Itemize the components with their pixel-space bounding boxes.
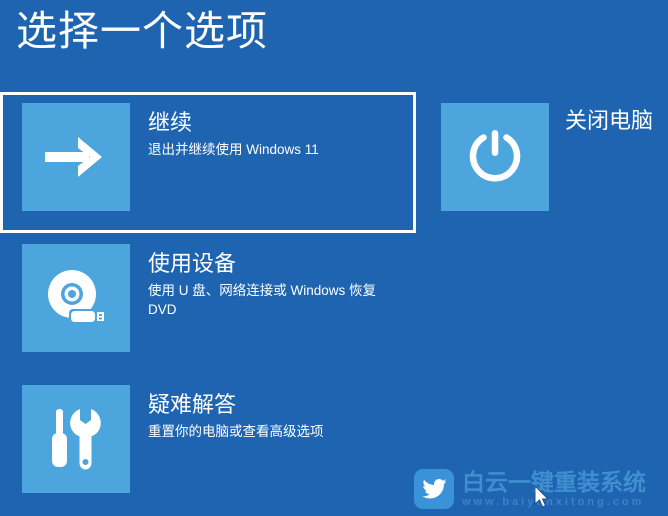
options-column-left: 继续 退出并继续使用 Windows 11 使用设备 使用 U 盘、网络连接或 … [0,92,416,515]
option-troubleshoot-tile [22,385,130,493]
option-title: 使用设备 [148,250,400,278]
option-continue-text: 继续 退出并继续使用 Windows 11 [148,103,319,159]
option-title: 关闭电脑 [565,107,653,135]
watermark-url: www.baiyunxitong.com [462,495,646,509]
bird-glyph [421,478,447,500]
watermark-text: 白云一键重装系统 www.baiyunxitong.com [462,470,646,509]
option-use-a-device-tile [22,244,130,352]
bird-icon [414,469,454,509]
option-continue-tile [22,103,130,211]
arrow-right-icon [45,134,107,180]
option-title: 疑难解答 [148,391,324,419]
screwdriver-wrench-icon [47,407,105,471]
option-troubleshoot-text: 疑难解答 重置你的电脑或查看高级选项 [148,385,324,441]
watermark: 白云一键重装系统 www.baiyunxitong.com [414,466,664,512]
option-use-a-device-text: 使用设备 使用 U 盘、网络连接或 Windows 恢复 DVD [148,244,400,319]
options-column-right: 关闭电脑 [430,92,668,233]
power-icon [466,128,524,186]
option-use-a-device[interactable]: 使用设备 使用 U 盘、网络连接或 Windows 恢复 DVD [0,233,416,374]
option-continue[interactable]: 继续 退出并继续使用 Windows 11 [0,92,416,233]
option-title: 继续 [148,109,319,137]
option-turn-off-pc[interactable]: 关闭电脑 [430,92,668,233]
watermark-brand: 白云一键重装系统 [462,470,646,495]
page-title: 选择一个选项 [16,2,268,60]
option-subtitle: 退出并继续使用 Windows 11 [148,140,319,159]
option-troubleshoot[interactable]: 疑难解答 重置你的电脑或查看高级选项 [0,374,416,515]
option-turn-off-pc-tile [441,103,549,211]
option-subtitle: 使用 U 盘、网络连接或 Windows 恢复 DVD [148,281,400,319]
disc-usb-device-icon [44,269,108,327]
option-turn-off-pc-text: 关闭电脑 [565,103,653,135]
option-subtitle: 重置你的电脑或查看高级选项 [148,422,324,441]
